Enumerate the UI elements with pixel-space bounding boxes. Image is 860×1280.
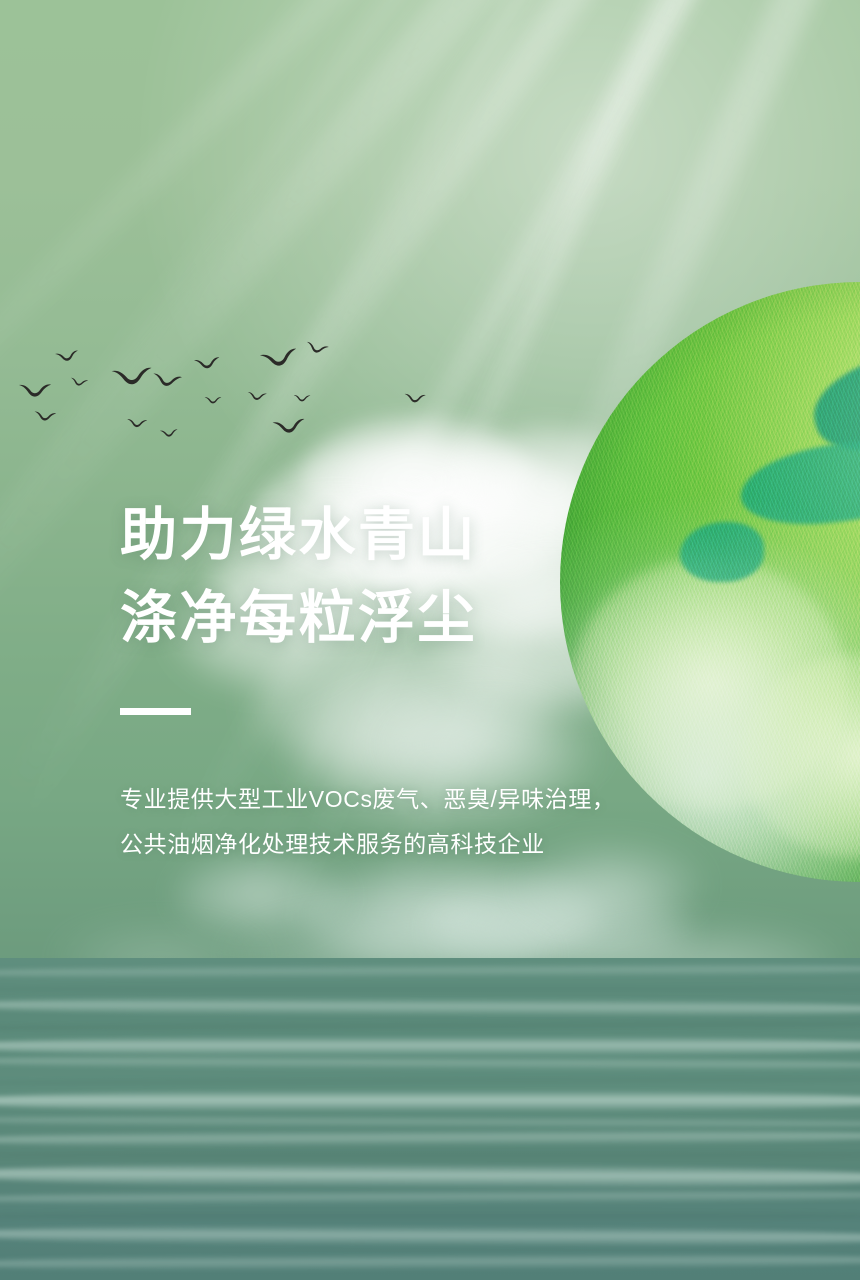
mist-cloud	[175, 855, 345, 935]
bird-icon	[33, 409, 57, 422]
water-ripple	[0, 996, 860, 1018]
water-ripple	[0, 1224, 860, 1248]
flying-birds-flock	[0, 330, 470, 460]
water-ripple	[0, 1018, 860, 1034]
bird-icon	[54, 349, 80, 364]
bird-icon	[304, 340, 330, 357]
bird-icon	[126, 417, 148, 428]
headline-divider	[120, 708, 191, 715]
bird-icon	[246, 390, 267, 402]
globe-continent	[680, 522, 764, 582]
hero-text-block: 助力绿水青山 涤净每粒浮尘 专业提供大型工业VOCs废气、恶臭/异味治理， 公共…	[120, 494, 680, 865]
bird-icon	[403, 392, 426, 404]
bird-icon	[193, 355, 221, 371]
water-ripple	[0, 1074, 860, 1088]
bird-icon	[151, 371, 183, 390]
water-ripple	[0, 1128, 860, 1148]
water-ripple	[0, 1150, 860, 1160]
bird-icon	[159, 428, 178, 438]
headline-line-2: 涤净每粒浮尘	[120, 577, 680, 660]
water-ripple	[0, 1210, 860, 1222]
water-ripple	[0, 984, 860, 994]
water-ripple	[0, 1054, 860, 1072]
globe-continent	[736, 434, 860, 532]
bird-icon	[18, 382, 52, 398]
bird-icon	[258, 346, 300, 371]
water-ripple	[0, 962, 860, 980]
poster-canvas: 助力绿水青山 涤净每粒浮尘 专业提供大型工业VOCs废气、恶臭/异味治理， 公共…	[0, 0, 860, 1280]
water-ripple	[0, 1252, 860, 1272]
globe-continent	[804, 334, 860, 465]
headline-line-1: 助力绿水青山	[120, 494, 680, 577]
water-ripple	[0, 1162, 860, 1190]
water-ripple	[0, 1188, 860, 1206]
subtitle-line-1: 专业提供大型工业VOCs废气、恶臭/异味治理，	[120, 779, 680, 820]
water-ripple	[0, 1090, 860, 1112]
subtitle-line-2: 公共油烟净化处理技术服务的高科技企业	[120, 824, 680, 865]
bird-icon	[69, 376, 89, 388]
mist-cloud	[300, 860, 600, 970]
globe-highlight-patch	[740, 654, 860, 858]
bird-icon	[110, 365, 154, 388]
bird-icon	[293, 394, 311, 403]
rippled-water-surface	[0, 958, 860, 1280]
bird-icon	[271, 416, 306, 435]
water-ripple	[0, 1036, 860, 1056]
bird-icon	[204, 396, 222, 404]
water-ripple	[0, 1114, 860, 1130]
